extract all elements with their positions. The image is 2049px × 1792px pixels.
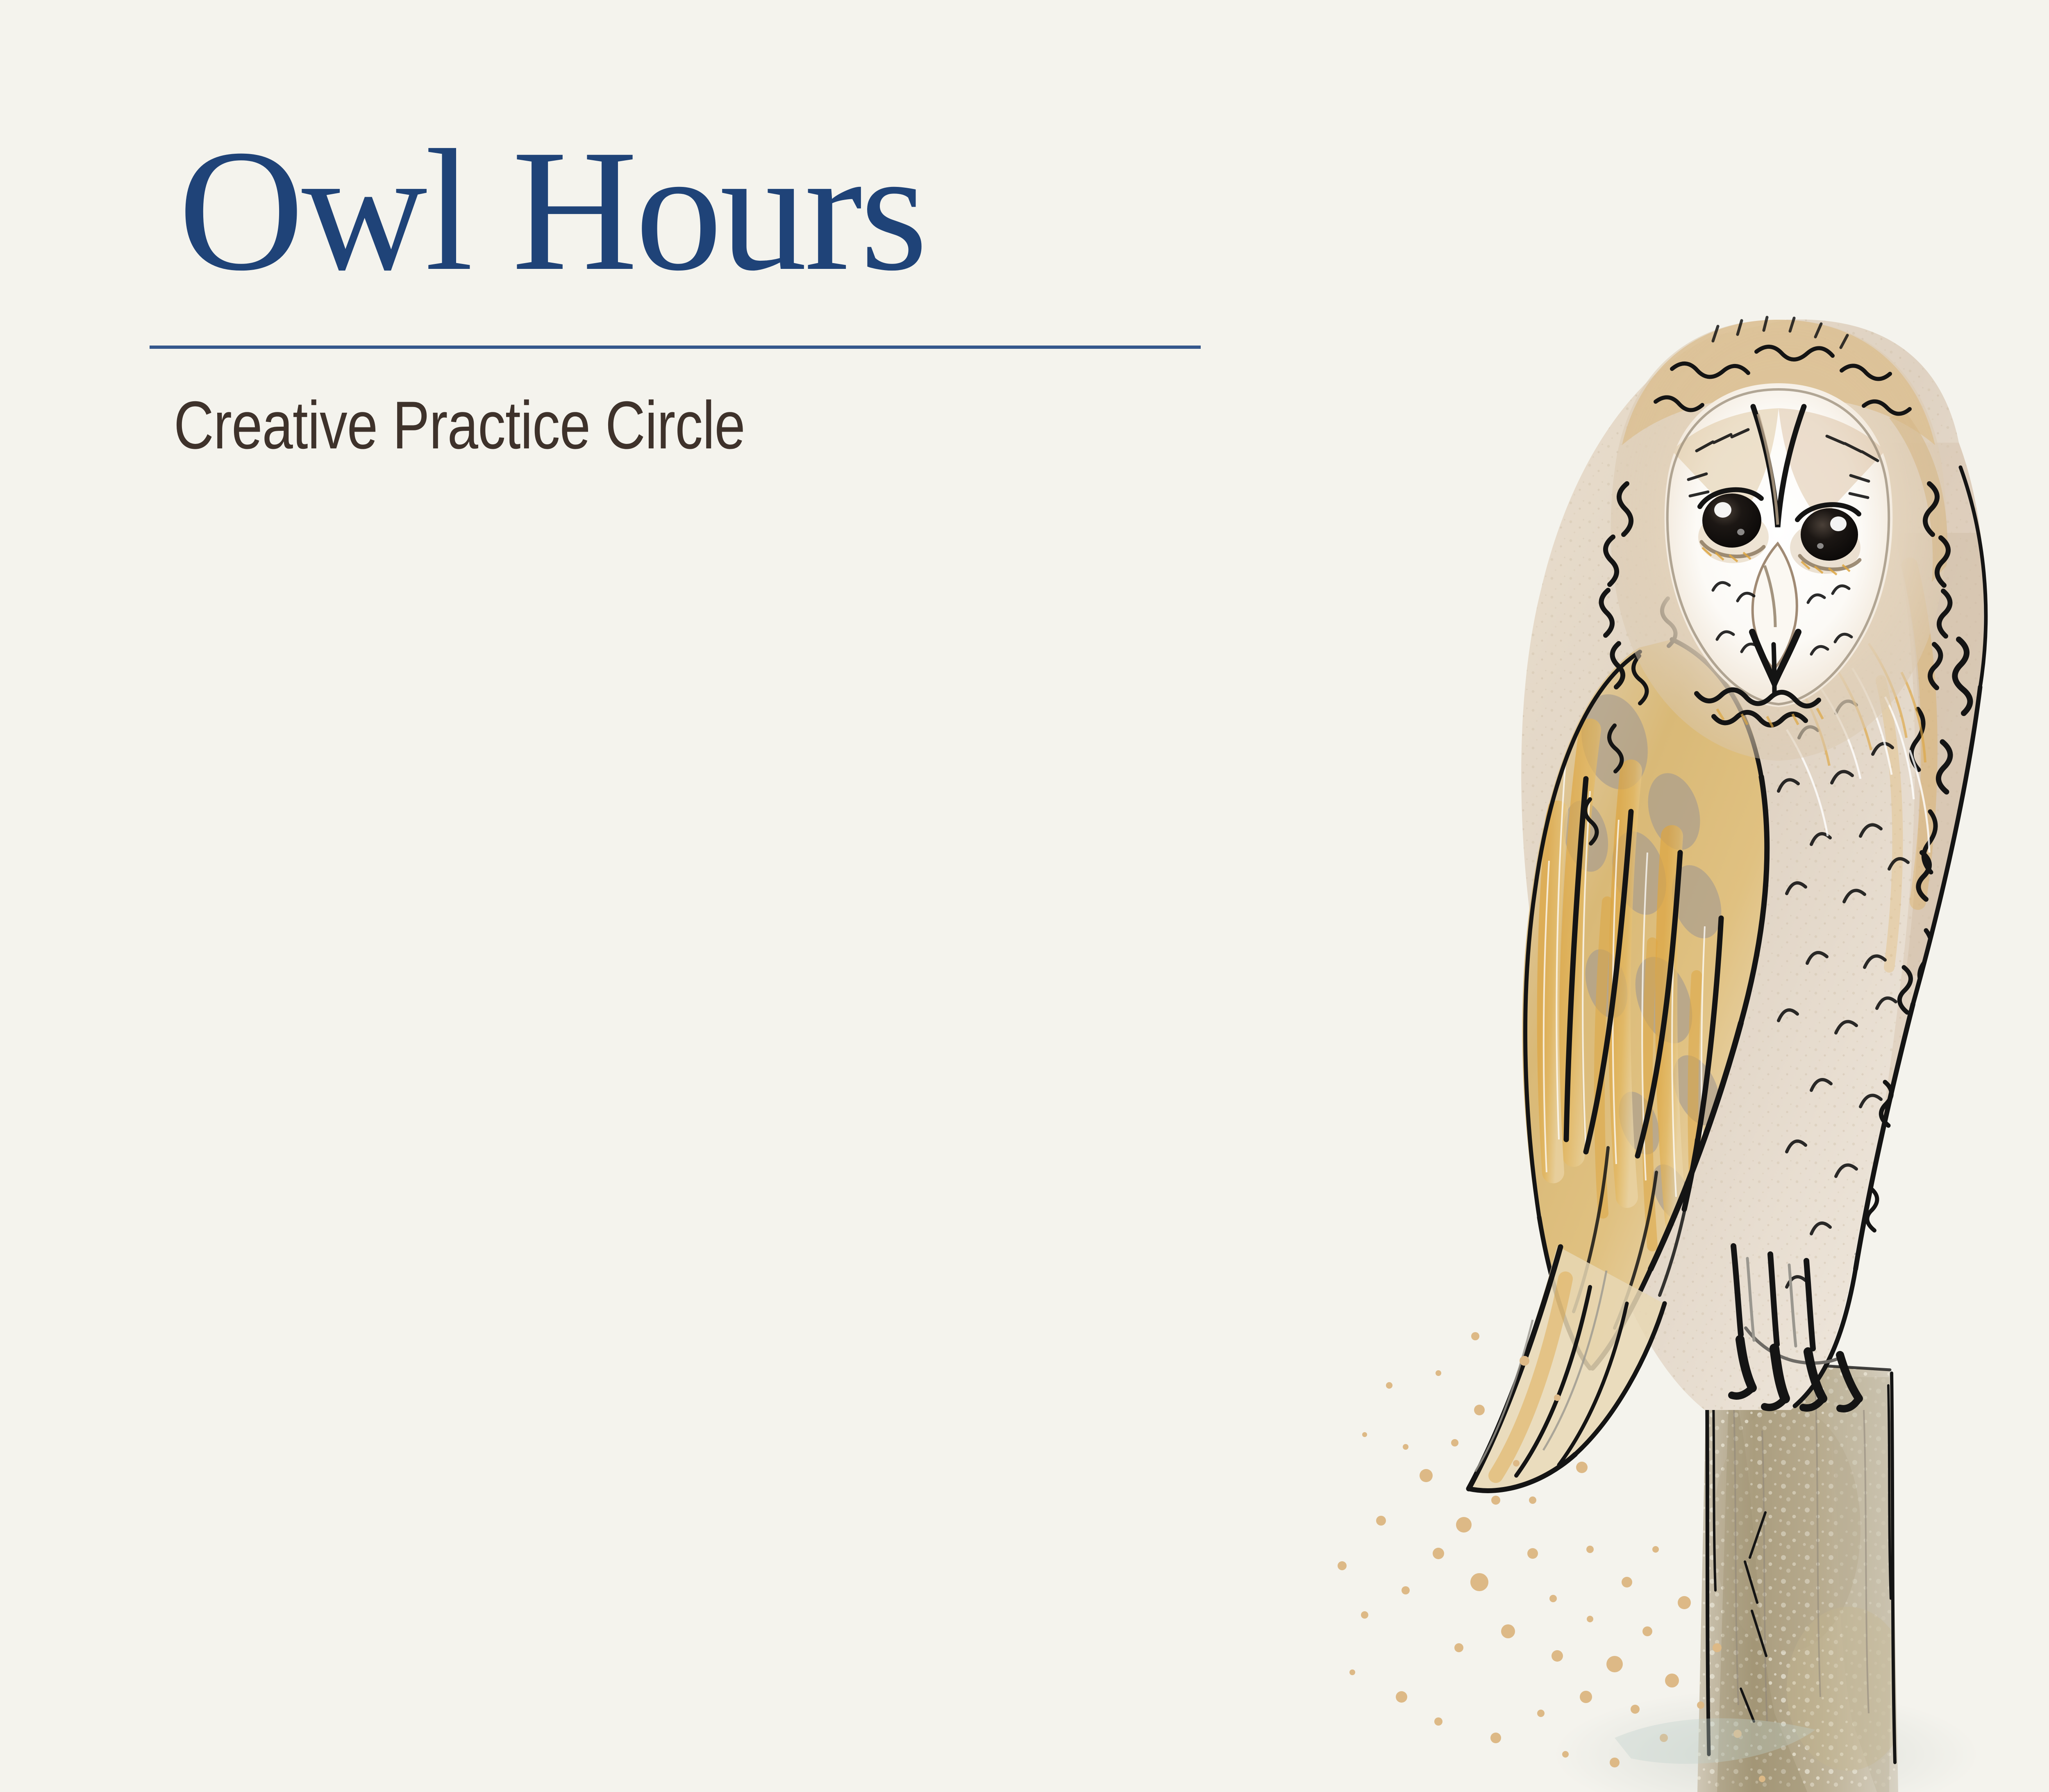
page-title: Owl Hours bbox=[150, 123, 1256, 297]
page-subtitle: Creative Practice Circle bbox=[150, 349, 1057, 464]
poster-canvas: Owl Hours Creative Practice Circle bbox=[0, 0, 2049, 1792]
barn-owl-illustration bbox=[1303, 197, 2049, 1792]
header-text-block: Owl Hours Creative Practice Circle bbox=[150, 123, 1256, 464]
title-divider bbox=[150, 346, 1201, 349]
